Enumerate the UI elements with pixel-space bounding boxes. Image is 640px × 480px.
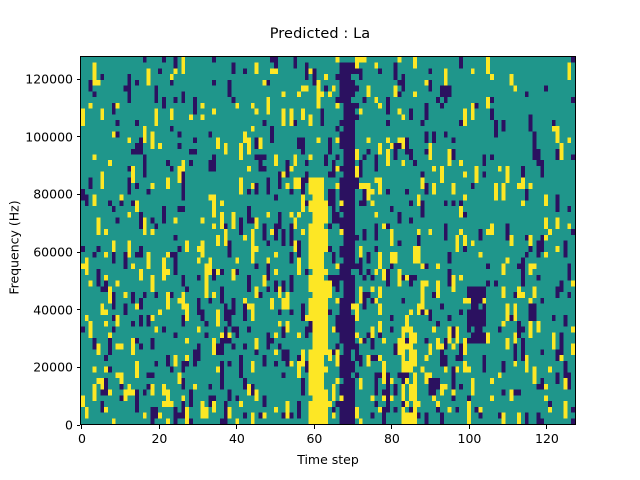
x-tick-mark (391, 425, 392, 429)
y-tick-label: 20000 (0, 360, 73, 375)
matplotlib-figure: Predicted : La 020406080100120 020000400… (0, 0, 640, 480)
x-tick-label: 80 (384, 431, 400, 446)
y-tick-mark (77, 136, 81, 137)
x-axis-label: Time step (80, 452, 576, 467)
y-tick-label: 100000 (0, 129, 73, 144)
x-tick-mark (236, 425, 237, 429)
heatmap-axes (80, 56, 576, 425)
heatmap-image (81, 57, 575, 424)
chart-title: Predicted : La (0, 26, 640, 42)
x-tick-label: 20 (151, 431, 167, 446)
y-tick-mark (77, 252, 81, 253)
x-tick-label: 100 (458, 431, 482, 446)
y-tick-mark (77, 309, 81, 310)
y-tick-mark (77, 194, 81, 195)
x-tick-label: 120 (535, 431, 559, 446)
y-tick-label: 120000 (0, 72, 73, 87)
x-tick-label: 60 (306, 431, 322, 446)
y-tick-mark (77, 79, 81, 80)
y-tick-mark (77, 425, 81, 426)
x-tick-mark (81, 425, 82, 429)
x-tick-mark (159, 425, 160, 429)
x-tick-mark (314, 425, 315, 429)
x-tick-mark (546, 425, 547, 429)
y-tick-label: 0 (0, 418, 73, 433)
y-tick-mark (77, 367, 81, 368)
x-tick-mark (469, 425, 470, 429)
y-axis-label: Frequency (Hz) (7, 148, 22, 348)
x-tick-label: 40 (229, 431, 245, 446)
x-tick-label: 0 (78, 431, 86, 446)
